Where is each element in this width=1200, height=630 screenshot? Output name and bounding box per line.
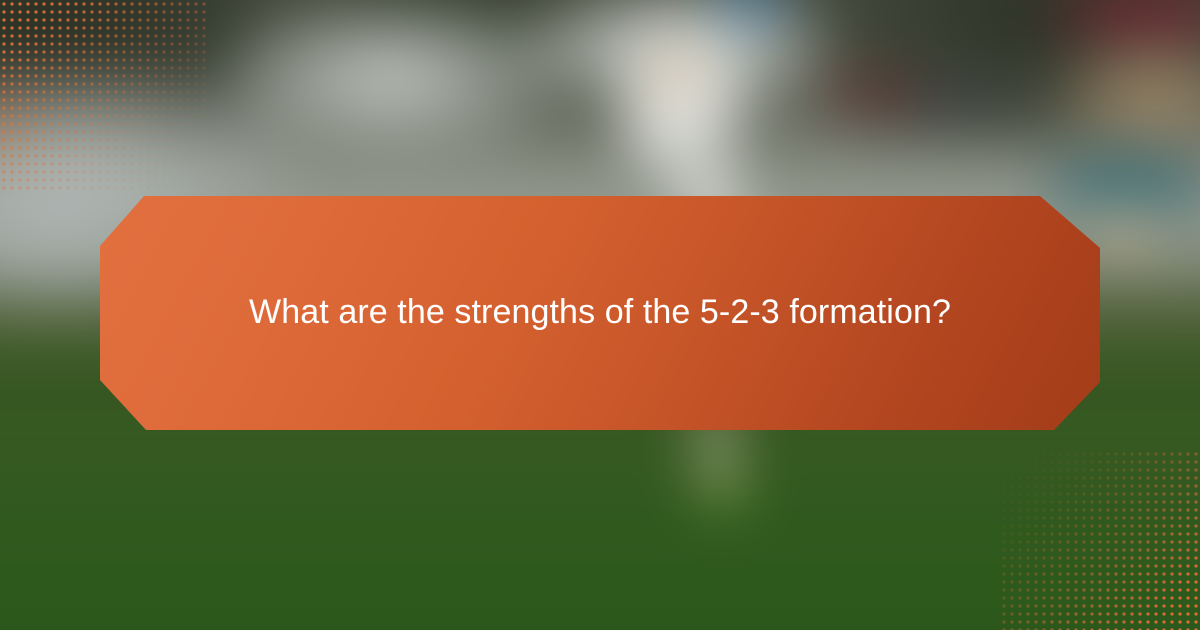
background-player-head xyxy=(651,51,700,100)
question-text: What are the strengths of the 5-2-3 form… xyxy=(220,286,980,339)
background-orange-patch-left xyxy=(0,85,28,159)
background-field-stripe xyxy=(0,437,1200,511)
screenshot-stage: What are the strengths of the 5-2-3 form… xyxy=(0,0,1200,630)
background-blue-flag xyxy=(710,0,795,32)
background-red-vehicle xyxy=(812,68,929,119)
question-card: What are the strengths of the 5-2-3 form… xyxy=(100,196,1100,430)
